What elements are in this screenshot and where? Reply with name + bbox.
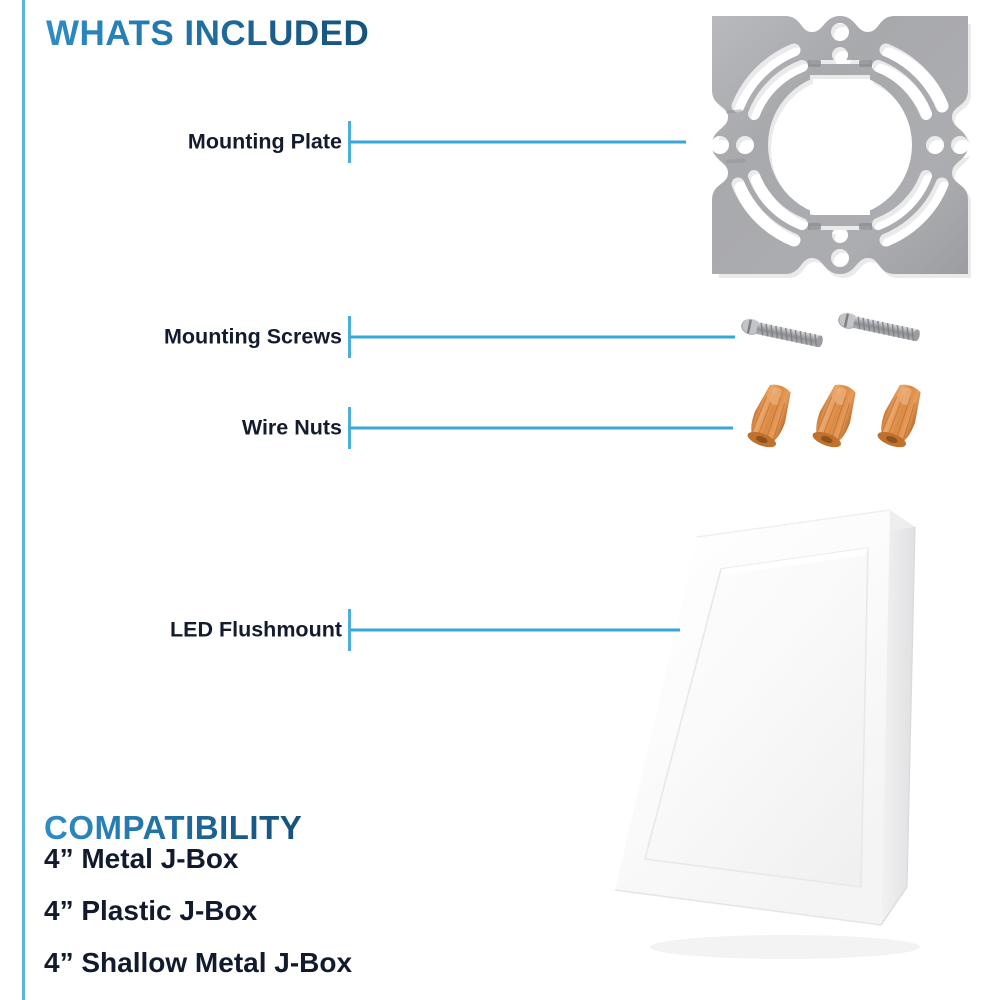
mounting-plate-icon [690, 2, 990, 294]
mounting-screw-1 [735, 312, 835, 360]
callout-leader-led-flushmount [350, 629, 680, 632]
callout-leader-mounting-plate [350, 141, 686, 144]
page-title-whats-included: WHATS INCLUDED [46, 14, 369, 54]
callout-label-mounting-plate: Mounting Plate [188, 130, 342, 155]
callout-leader-mounting-screws [350, 336, 735, 339]
left-accent-rule [22, 0, 25, 1000]
section-title-compatibility: COMPATIBILITY [44, 809, 302, 847]
compatibility-item-metal-jbox: 4” Metal J-Box [44, 843, 239, 875]
infographic-page: WHATS INCLUDED COMPATIBILITY [0, 0, 1000, 1000]
wire-nut-3 [869, 383, 931, 451]
callout-leader-wire-nuts [350, 427, 733, 430]
callout-label-led-flushmount: LED Flushmount [170, 618, 342, 643]
callout-label-wire-nuts: Wire Nuts [242, 416, 342, 441]
wire-nut-2 [804, 383, 866, 451]
callout-label-mounting-screws: Mounting Screws [164, 325, 342, 350]
led-flushmount-icon [585, 495, 1000, 965]
wire-nut-1 [739, 383, 801, 451]
compatibility-item-plastic-jbox: 4” Plastic J-Box [44, 895, 257, 927]
compatibility-item-shallow-metal-jbox: 4” Shallow Metal J-Box [44, 947, 352, 979]
mounting-screw-2 [832, 306, 932, 354]
